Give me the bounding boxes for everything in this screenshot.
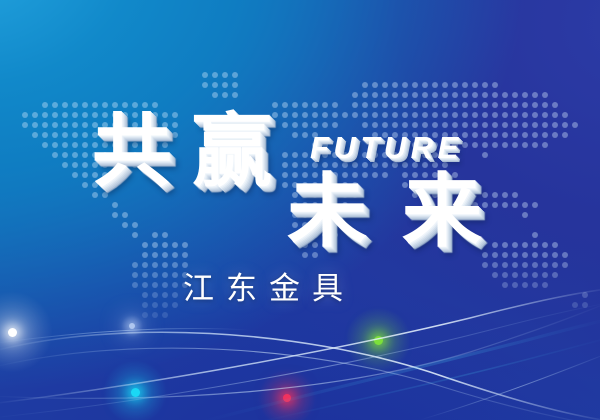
company-name-subtitle: 江东金具 xyxy=(183,274,355,305)
headline-char-wei: 未 xyxy=(287,172,367,252)
english-word-future: FUTURE xyxy=(310,132,463,163)
headline-char-gong: 共 xyxy=(92,112,172,192)
promo-banner: 共 赢 FUTURE 未 来 江东金具 xyxy=(0,0,600,420)
headline-char-ying: 赢 xyxy=(192,112,272,192)
headline-block: 共 赢 FUTURE 未 来 江东金具 xyxy=(0,0,600,420)
headline-char-lai: 来 xyxy=(402,172,482,252)
